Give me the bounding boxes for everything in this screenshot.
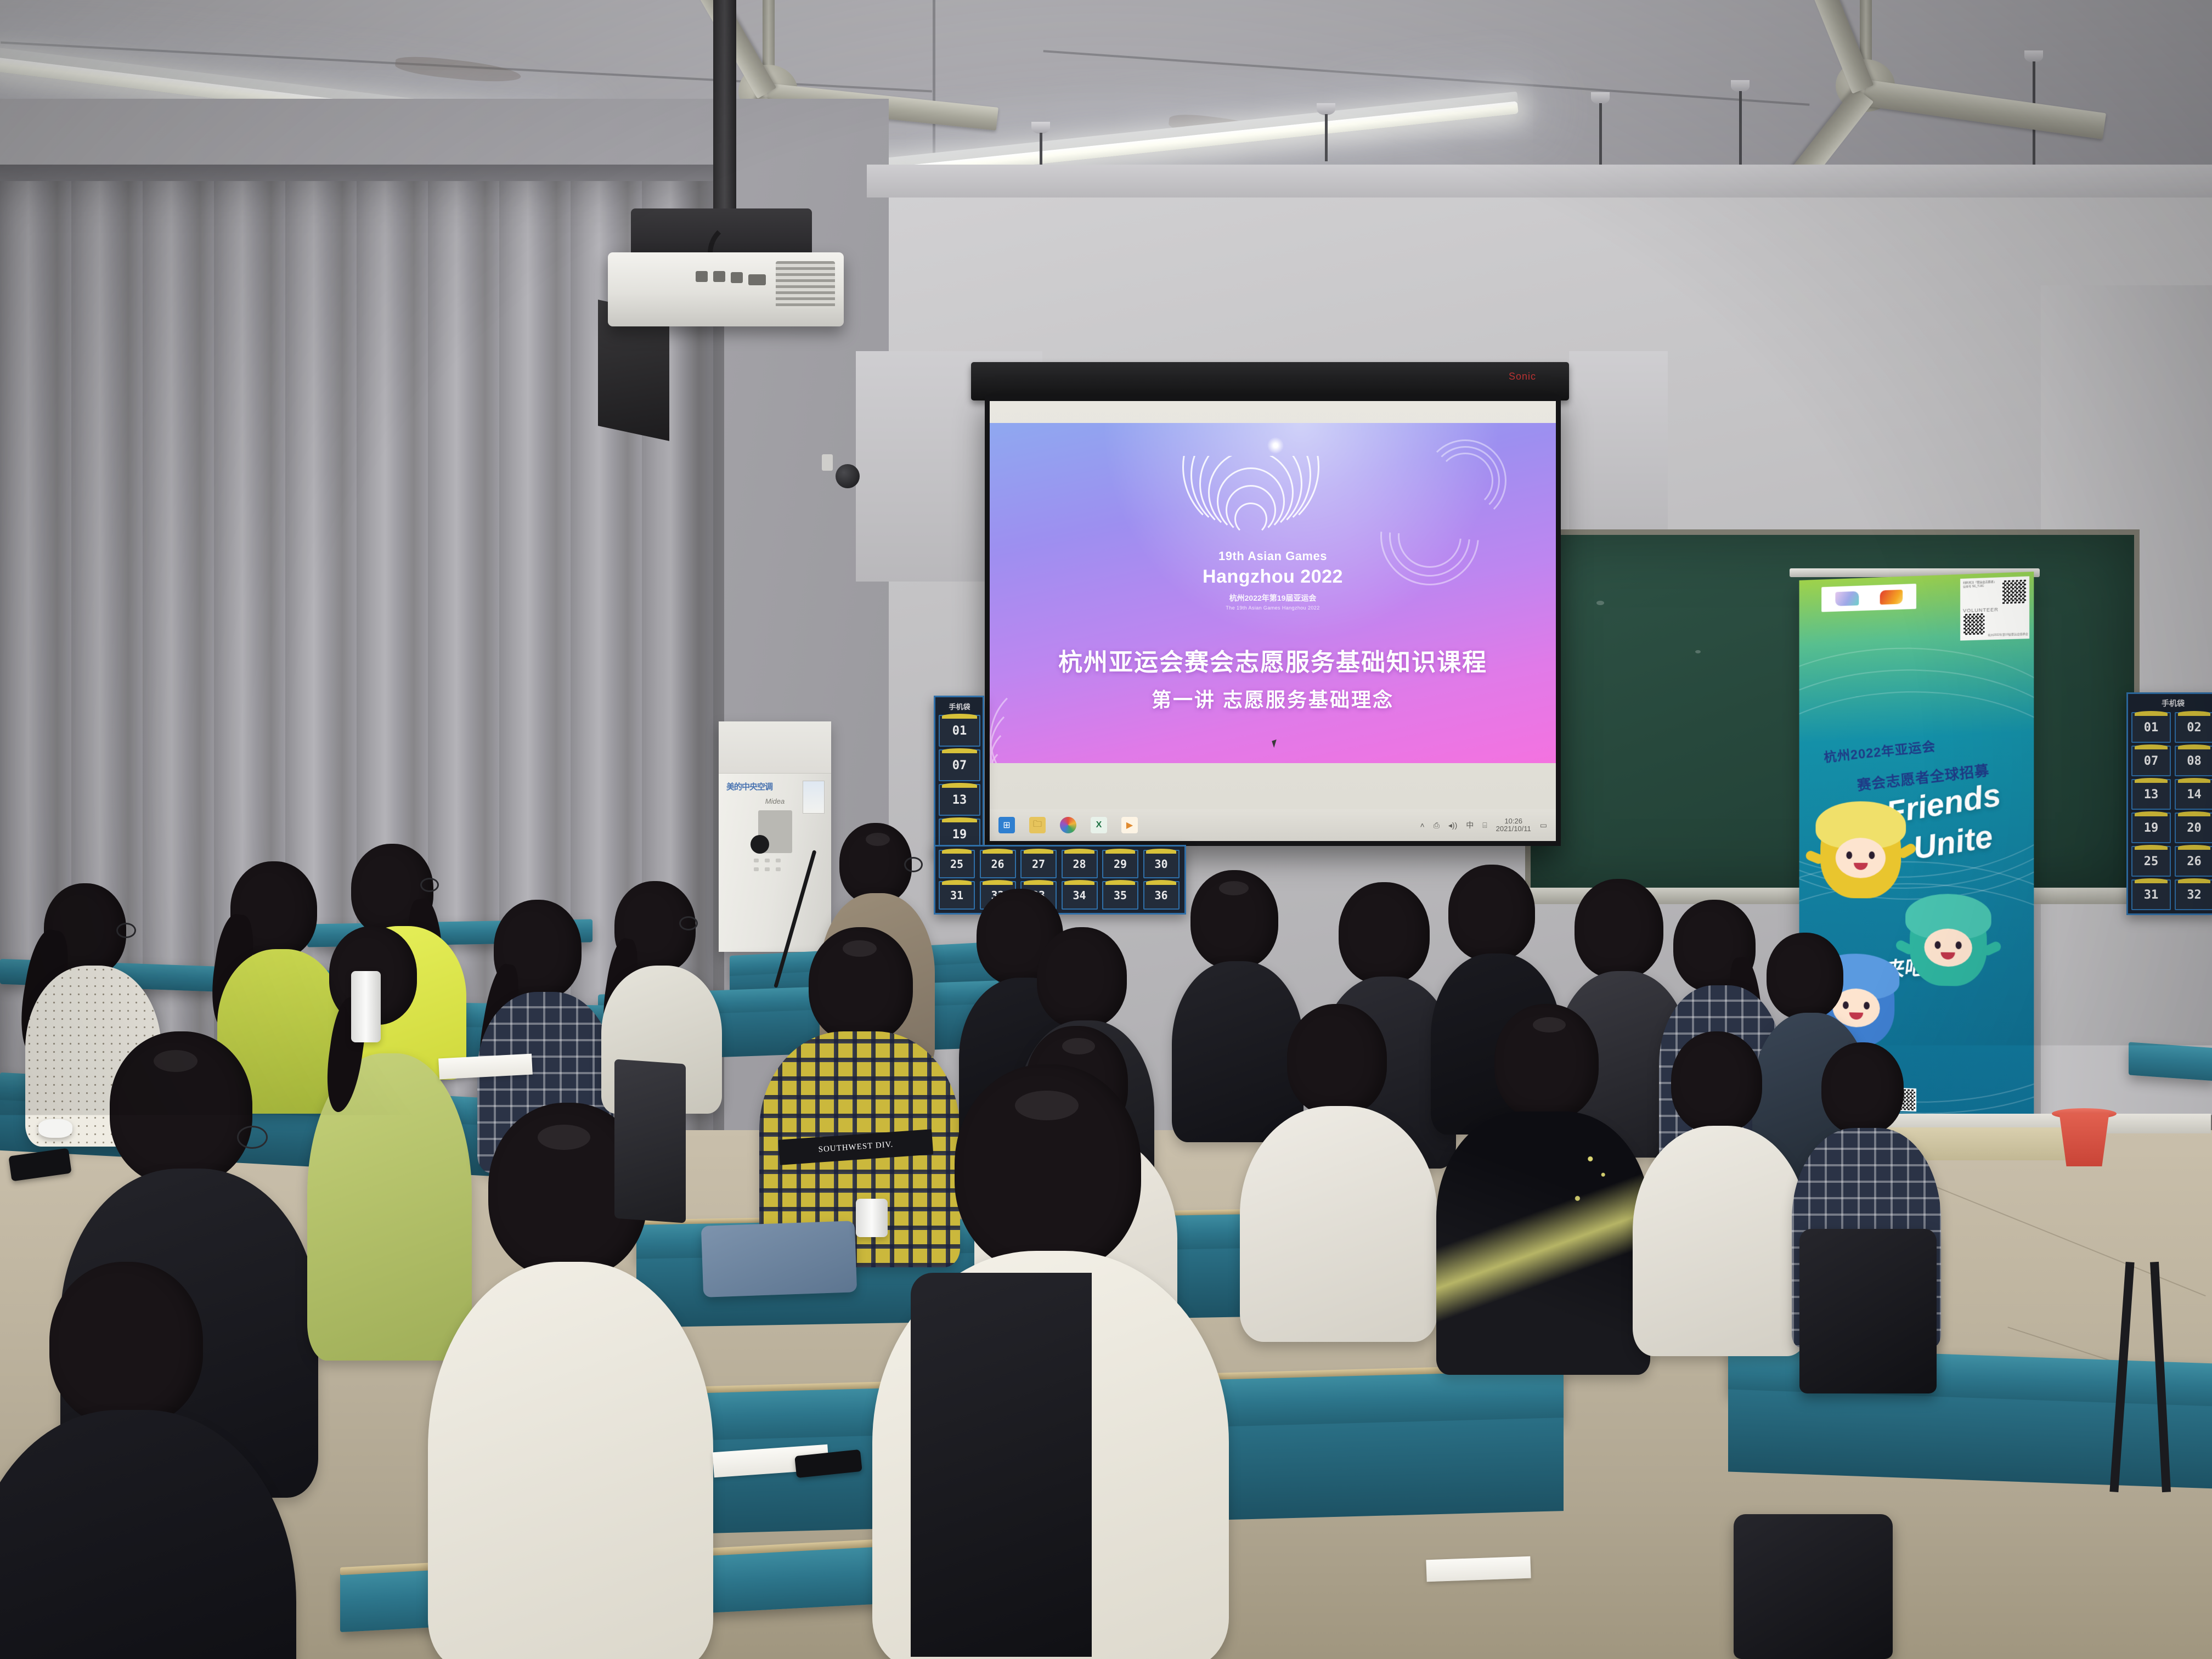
head bbox=[1767, 933, 1843, 1019]
emblem-text-block: 19th Asian Games Hangzhou 2022 杭州2022年第1… bbox=[990, 457, 1556, 611]
network-icon[interactable]: ⎙ bbox=[1434, 821, 1440, 830]
projector-port bbox=[696, 271, 708, 282]
banner-qr-card: 扫码关注「亚运会志愿者」 公众号 SC_TJJC VOLUNTEER 杭州202… bbox=[1960, 576, 2029, 640]
phone-pocket-25[interactable]: 25 bbox=[939, 850, 975, 878]
mascot-mouth bbox=[1854, 863, 1867, 870]
ac-top-vent bbox=[719, 721, 831, 774]
projector-port bbox=[748, 274, 766, 285]
mascot-face bbox=[1925, 928, 1972, 967]
media-player-icon[interactable]: ▶ bbox=[1121, 817, 1138, 833]
chair[interactable] bbox=[614, 1059, 686, 1223]
phone-pocket-31[interactable]: 31 bbox=[2131, 879, 2171, 910]
head bbox=[1190, 870, 1278, 969]
phone-pocket-30[interactable]: 30 bbox=[1143, 850, 1180, 878]
projector-port bbox=[713, 271, 725, 282]
qr-code-icon[interactable] bbox=[1962, 612, 1985, 636]
phone-pocket-01[interactable]: 01 bbox=[2131, 712, 2171, 743]
head bbox=[1575, 879, 1663, 979]
mascot-congcong bbox=[1820, 806, 1901, 899]
bag[interactable] bbox=[384, 1256, 455, 1344]
head bbox=[1671, 1031, 1762, 1133]
classroom-photo-scene: Sonic bbox=[0, 0, 2212, 1659]
ac-button[interactable] bbox=[754, 859, 759, 862]
backpack[interactable] bbox=[1734, 1514, 1893, 1659]
phone-pocket-organizer-right[interactable]: 手机袋010207081314192025263132 bbox=[2126, 692, 2212, 915]
ceiling-projector bbox=[608, 252, 844, 326]
phone-pocket-28[interactable]: 28 bbox=[1062, 850, 1098, 878]
ac-button[interactable] bbox=[776, 859, 781, 862]
torso bbox=[428, 1262, 713, 1659]
phone-pocket-organizer-left-bottom[interactable]: 252627282930313233343536 bbox=[934, 845, 1186, 915]
torso bbox=[1172, 961, 1304, 1142]
phone-pocket-36[interactable]: 36 bbox=[1143, 881, 1180, 910]
glasses-icon bbox=[679, 916, 698, 930]
glasses-icon bbox=[420, 878, 439, 892]
head bbox=[110, 1031, 252, 1185]
phone-pocket-32[interactable]: 32 bbox=[2175, 879, 2212, 910]
taskbar-clock[interactable]: 10:26 2021/10/11 bbox=[1496, 817, 1531, 833]
ime-icon[interactable]: 中 bbox=[1466, 820, 1474, 831]
torso bbox=[1436, 1111, 1650, 1375]
emblem-line-en-1: 19th Asian Games bbox=[990, 549, 1556, 563]
glasses-icon bbox=[904, 857, 923, 872]
emblem-line-cn-sub: The 19th Asian Games Hangzhou 2022 bbox=[990, 605, 1556, 611]
camera-mount bbox=[822, 454, 833, 471]
clock-date: 2021/10/11 bbox=[1496, 825, 1531, 833]
banner-logo-strip bbox=[1821, 584, 1916, 612]
mascot-eye bbox=[1935, 941, 1941, 949]
security-camera-icon bbox=[836, 464, 860, 488]
wall-trim bbox=[867, 165, 2212, 198]
hoodie-shoulder bbox=[911, 1273, 1092, 1657]
chevron-up-icon[interactable]: ˄ bbox=[1420, 821, 1425, 830]
phone-pocket-02[interactable]: 02 bbox=[2175, 712, 2212, 743]
mascot-eye bbox=[1847, 851, 1853, 859]
head bbox=[955, 1064, 1141, 1273]
glasses-icon bbox=[237, 1126, 268, 1149]
torso bbox=[1633, 1126, 1808, 1356]
mascot-eye bbox=[1864, 1002, 1870, 1009]
head bbox=[1287, 1004, 1387, 1116]
phone-pocket-31[interactable]: 31 bbox=[939, 881, 975, 910]
phone-pocket-20[interactable]: 20 bbox=[2175, 812, 2212, 843]
projector-mount-pipe bbox=[713, 0, 736, 219]
paper-sheet[interactable] bbox=[1426, 1556, 1531, 1582]
desk-front-panel bbox=[1728, 1389, 2212, 1488]
mascot-mouth bbox=[1849, 1012, 1863, 1019]
mascot-face bbox=[1836, 838, 1886, 878]
ac-button[interactable] bbox=[776, 867, 781, 871]
head bbox=[1494, 1004, 1599, 1120]
mascot-mouth bbox=[1941, 952, 1955, 959]
ime-tool-icon[interactable]: ⌸ bbox=[1482, 821, 1487, 830]
phone-pocket-34[interactable]: 34 bbox=[1062, 881, 1098, 910]
projection-surface: 19th Asian Games Hangzhou 2022 杭州2022年第1… bbox=[990, 401, 1556, 841]
qr-note-bot: 杭州2022年第19届亚运会组委会 bbox=[1988, 633, 2028, 637]
water-bottle[interactable] bbox=[856, 1199, 888, 1237]
phone-pocket-01[interactable]: 01 bbox=[939, 715, 980, 747]
head bbox=[49, 1262, 203, 1426]
clock-time: 10:26 bbox=[1496, 817, 1531, 825]
slide-title: 杭州亚运会赛会志愿服务基础知识课程 bbox=[990, 642, 1556, 678]
phone-pocket-header: 手机袋 bbox=[939, 701, 980, 712]
earbuds-case[interactable] bbox=[38, 1119, 72, 1138]
head bbox=[1037, 927, 1127, 1028]
light-hanging-rod bbox=[1040, 133, 1042, 166]
head bbox=[839, 823, 912, 904]
file-explorer-icon[interactable]: 🗀 bbox=[1029, 817, 1046, 833]
browser-icon[interactable] bbox=[1060, 817, 1076, 833]
volume-icon[interactable]: ◂)) bbox=[1448, 821, 1457, 830]
mascot-eye bbox=[1955, 941, 1961, 949]
mouse-cursor-icon bbox=[1272, 740, 1279, 748]
asian-games-logo-icon bbox=[1835, 591, 1859, 606]
head bbox=[1448, 865, 1535, 961]
phone-pocket-13[interactable]: 13 bbox=[2131, 779, 2171, 810]
wall-column bbox=[1569, 351, 1668, 538]
phone-pocket-26[interactable]: 26 bbox=[980, 850, 1016, 878]
taskbar-tray: ˄ ⎙ ◂)) 中 ⌸ 10:26 2021/10/11 ▭ bbox=[1420, 817, 1548, 833]
water-bottle[interactable] bbox=[351, 971, 381, 1042]
windows-start-icon[interactable]: ⊞ bbox=[998, 817, 1015, 833]
head bbox=[1821, 1042, 1904, 1135]
action-center-icon[interactable]: ▭ bbox=[1540, 821, 1547, 830]
head bbox=[809, 927, 913, 1042]
ac-button[interactable] bbox=[765, 867, 770, 871]
ac-sticker-label: 美的中央空调 bbox=[726, 781, 772, 792]
phone-pocket-27[interactable]: 27 bbox=[1020, 850, 1057, 878]
volunteer-logo-icon bbox=[1880, 590, 1903, 605]
light-hanging-rod bbox=[1325, 114, 1328, 161]
light-rod-cap bbox=[1731, 80, 1750, 92]
phone-pocket-26[interactable]: 26 bbox=[2175, 846, 2212, 877]
emblem-line-cn: 杭州2022年第19届亚运会 bbox=[990, 592, 1556, 603]
glasses-icon bbox=[116, 923, 136, 938]
light-rod-cap bbox=[1031, 122, 1050, 134]
desk-right-1 bbox=[2129, 1042, 2212, 1081]
slide-subtitle: 第一讲 志愿服务基础理念 bbox=[990, 684, 1556, 713]
phone-pocket-19[interactable]: 19 bbox=[2131, 812, 2171, 843]
head bbox=[1339, 882, 1430, 984]
emblem-line-en-2: Hangzhou 2022 bbox=[990, 566, 1556, 588]
projection-screen-housing[interactable]: Sonic bbox=[971, 362, 1569, 400]
backpack[interactable] bbox=[1799, 1229, 1937, 1393]
air-conditioner[interactable]: 美的中央空调 Midea bbox=[719, 721, 831, 952]
mascot-lianlian bbox=[1910, 899, 1987, 987]
screen-brand-label: Sonic bbox=[1509, 371, 1536, 382]
qr-code-icon[interactable] bbox=[2001, 579, 2027, 605]
phone-pocket-08[interactable]: 08 bbox=[2175, 746, 2212, 776]
phone-pocket-13[interactable]: 13 bbox=[939, 784, 980, 816]
light-rod-cap bbox=[1591, 92, 1610, 104]
phone-pocket-07[interactable]: 07 bbox=[939, 749, 980, 781]
phone-pocket-29[interactable]: 29 bbox=[1102, 850, 1138, 878]
mascot-eye bbox=[1843, 1002, 1849, 1009]
mascot-eye bbox=[1869, 851, 1875, 859]
microphone-head-icon[interactable] bbox=[751, 835, 769, 854]
phone-pocket-organizer-left[interactable]: 手机袋01071319 bbox=[934, 696, 984, 855]
excel-icon[interactable]: X bbox=[1091, 817, 1107, 833]
projector-port bbox=[731, 272, 743, 283]
light-rod-cap bbox=[1317, 103, 1335, 115]
phone-pocket-header: 手机袋 bbox=[2131, 697, 2212, 709]
torso bbox=[1240, 1106, 1437, 1342]
ac-button[interactable] bbox=[765, 859, 770, 862]
fan-down-rod bbox=[763, 0, 775, 71]
light-rod-cap bbox=[2024, 50, 2043, 63]
projector-vent-icon bbox=[776, 261, 835, 308]
corner-arc-decoration-icon bbox=[990, 664, 1121, 763]
phone-pocket-14[interactable]: 14 bbox=[2175, 779, 2212, 810]
windows-taskbar[interactable]: ⊞ 🗀 X ▶ ˄ ⎙ ◂)) 中 ⌸ 10:26 2021/10/11 ▭ bbox=[990, 809, 1556, 841]
ac-button[interactable] bbox=[754, 867, 759, 871]
phone-pocket-35[interactable]: 35 bbox=[1102, 881, 1138, 910]
presentation-slide: 19th Asian Games Hangzhou 2022 杭州2022年第1… bbox=[990, 423, 1556, 763]
panda-keychain-icon[interactable] bbox=[379, 1223, 421, 1266]
sun-sparkle-icon bbox=[1267, 437, 1284, 454]
draped-jacket bbox=[701, 1221, 857, 1297]
phone-pocket-07[interactable]: 07 bbox=[2131, 746, 2171, 776]
projection-screen: 19th Asian Games Hangzhou 2022 杭州2022年第1… bbox=[985, 396, 1561, 846]
ac-energy-label bbox=[803, 781, 825, 814]
phone-pocket-25[interactable]: 25 bbox=[2131, 846, 2171, 877]
